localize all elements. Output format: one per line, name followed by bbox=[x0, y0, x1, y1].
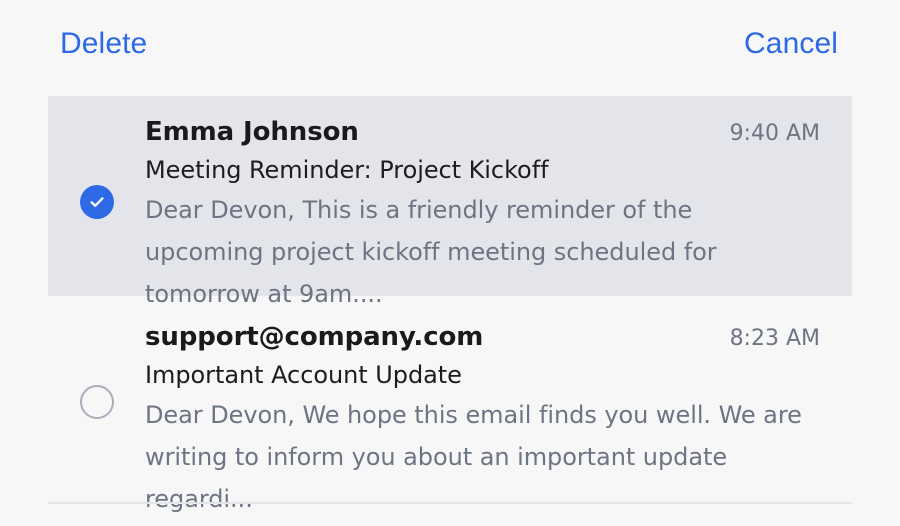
mail-selection-screen: Delete Cancel Emma Johnson 9:40 AM Meeti… bbox=[0, 0, 900, 526]
message-timestamp: 8:23 AM bbox=[730, 322, 820, 356]
message-header-line: Emma Johnson 9:40 AM bbox=[145, 115, 820, 151]
list-bottom-divider bbox=[48, 502, 852, 504]
circle-outline-icon[interactable] bbox=[80, 385, 114, 419]
message-content: Emma Johnson 9:40 AM Meeting Reminder: P… bbox=[145, 115, 852, 315]
check-circle-filled-icon[interactable] bbox=[80, 185, 114, 219]
message-subject: Important Account Update bbox=[145, 356, 820, 394]
message-content: support@company.com 8:23 AM Important Ac… bbox=[145, 320, 852, 520]
message-sender: support@company.com bbox=[145, 320, 483, 354]
message-subject: Meeting Reminder: Project Kickoff bbox=[145, 151, 820, 189]
message-header-line: support@company.com 8:23 AM bbox=[145, 320, 820, 356]
message-timestamp: 9:40 AM bbox=[730, 117, 820, 151]
selection-action-bar: Delete Cancel bbox=[0, 0, 900, 88]
selection-control-cell bbox=[48, 115, 145, 219]
delete-button[interactable]: Delete bbox=[60, 29, 147, 59]
message-list-item[interactable]: support@company.com 8:23 AM Important Ac… bbox=[48, 296, 852, 496]
message-list: Emma Johnson 9:40 AM Meeting Reminder: P… bbox=[48, 96, 852, 496]
cancel-button[interactable]: Cancel bbox=[744, 29, 838, 59]
selection-control-cell bbox=[48, 320, 145, 419]
message-list-item[interactable]: Emma Johnson 9:40 AM Meeting Reminder: P… bbox=[48, 96, 852, 296]
message-sender: Emma Johnson bbox=[145, 115, 359, 149]
